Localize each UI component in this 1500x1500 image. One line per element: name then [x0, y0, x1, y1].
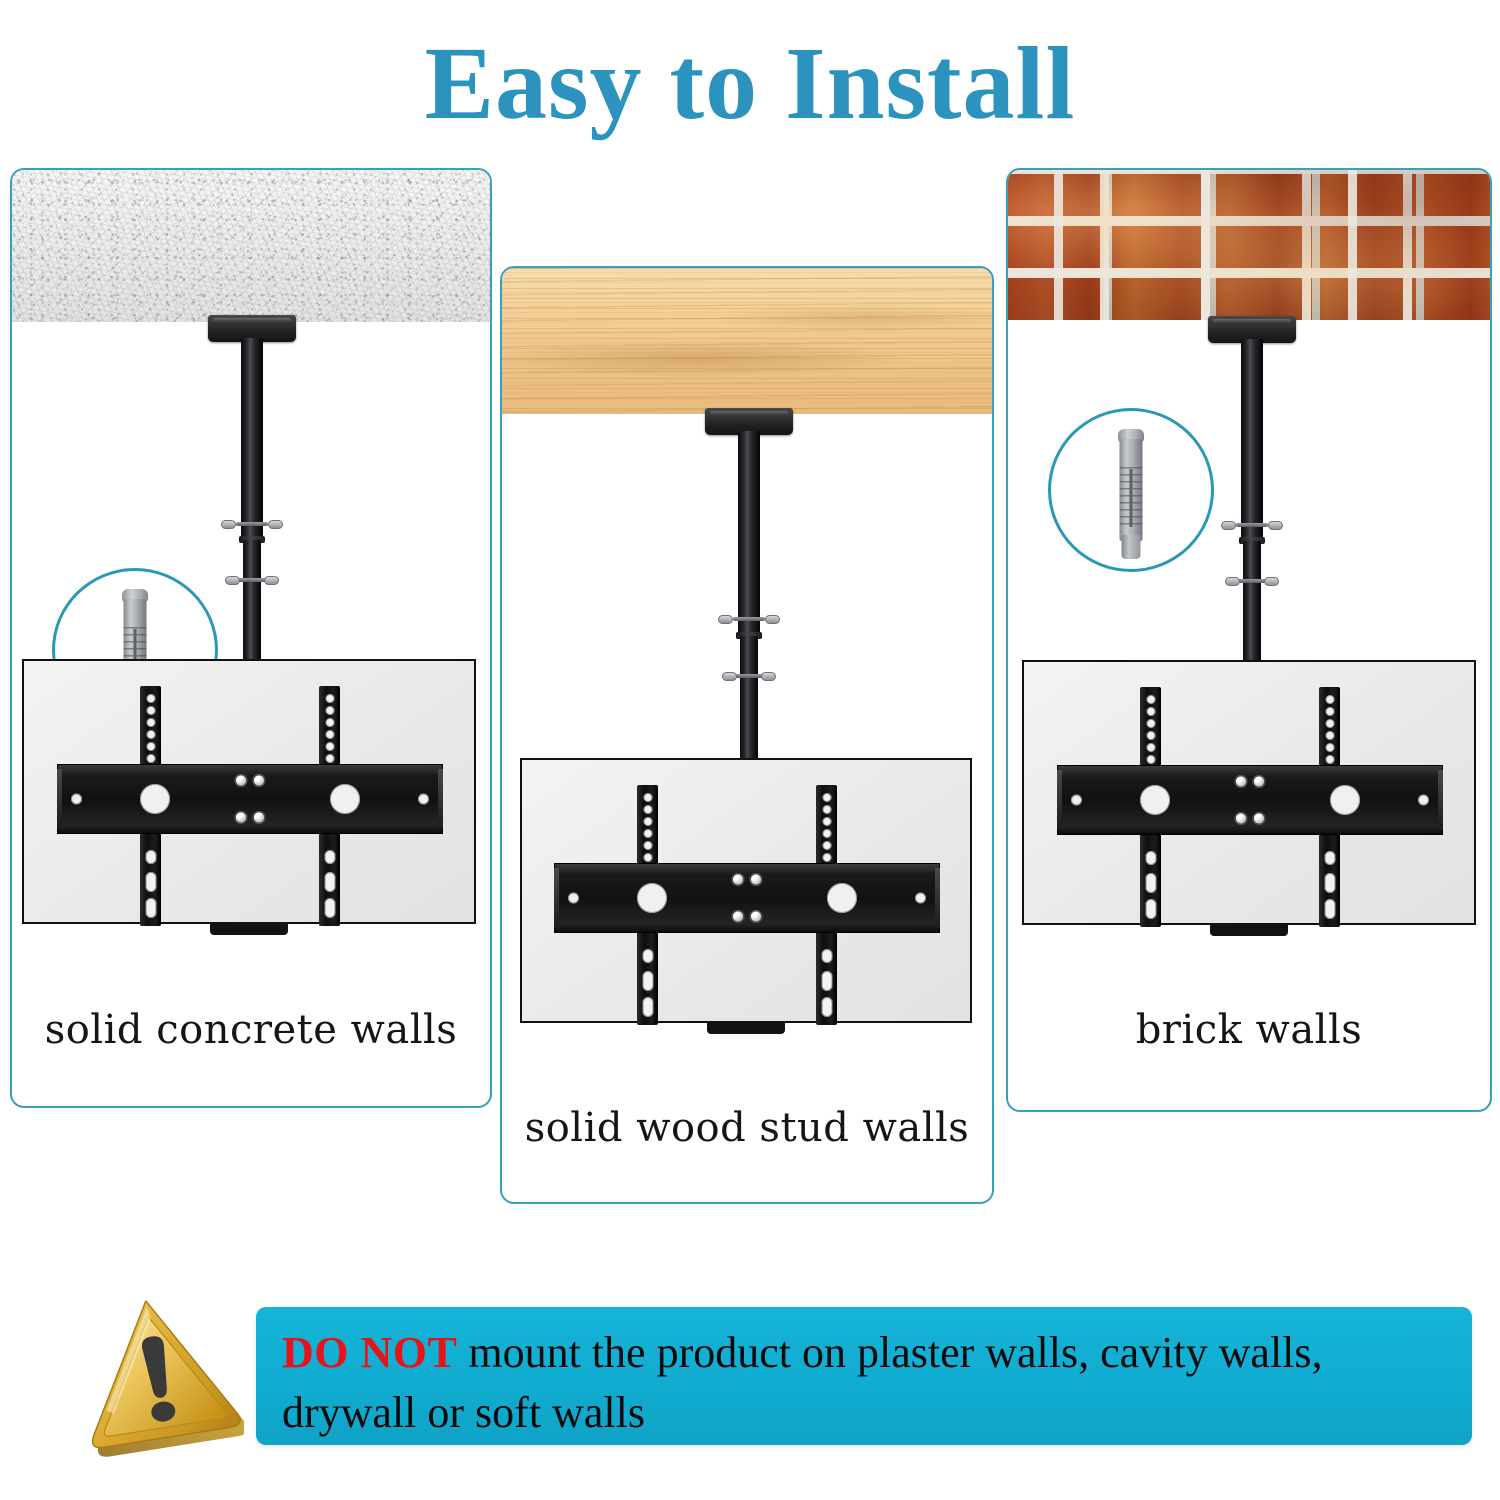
infographic-page: Easy to Install: [0, 0, 1500, 1500]
tv-foot: [1210, 923, 1288, 936]
panel-caption-concrete: solid concrete walls: [12, 1008, 490, 1053]
pole-adjust-pins-lower[interactable]: [722, 672, 776, 681]
warning-banner: DO NOT mount the product on plaster wall…: [256, 1307, 1472, 1445]
anchor-callout-circle: [1048, 408, 1214, 572]
pole-adjust-pins-lower[interactable]: [1225, 577, 1279, 586]
tv-foot: [210, 922, 288, 935]
mount-pole-upper: [241, 338, 263, 540]
panel-brick: brick walls: [1006, 168, 1492, 1112]
panel-caption-brick: brick walls: [1008, 1008, 1490, 1053]
warning-triangle-icon: [72, 1286, 244, 1462]
warning-text: DO NOT mount the product on plaster wall…: [282, 1323, 1450, 1443]
bracket-horizontal-bar: [1057, 765, 1443, 835]
brick-wall-icon: [1008, 170, 1490, 320]
pole-adjust-pins-upper[interactable]: [221, 520, 283, 529]
panel-caption-wood: solid wood stud walls: [502, 1106, 992, 1151]
page-title: Easy to Install: [0, 26, 1500, 142]
warning-emphasis: DO NOT: [282, 1328, 457, 1377]
wall-anchor-plug-icon: [1116, 429, 1146, 557]
pole-adjust-pins-upper[interactable]: [718, 615, 780, 624]
bracket-horizontal-bar: [554, 863, 940, 933]
mount-pole-upper: [738, 431, 760, 636]
pole-adjust-pins-upper[interactable]: [1221, 521, 1283, 530]
pole-adjust-pins-lower[interactable]: [225, 576, 279, 585]
wood-beam-icon: [502, 268, 992, 414]
panel-solid-concrete: solid concrete walls: [10, 168, 492, 1108]
stucco-ceiling-icon: [12, 170, 490, 322]
tv-foot: [707, 1021, 785, 1034]
bracket-horizontal-bar: [57, 764, 443, 834]
mount-pole-upper: [1241, 339, 1263, 541]
panel-solid-wood-stud: solid wood stud walls: [500, 266, 994, 1204]
